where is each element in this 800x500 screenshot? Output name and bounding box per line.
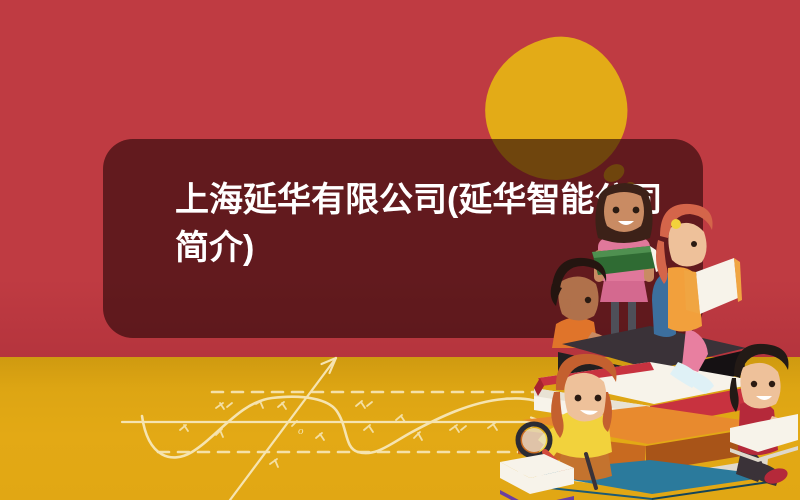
orange-open-book (684, 258, 742, 314)
children-reading-on-book-stack-illustration (500, 176, 800, 500)
trigonometric-function-sketch: o (120, 352, 550, 500)
child-right-red-shirt (730, 344, 798, 486)
banner-canvas: 上海延华有限公司(延华智能公司简介) (0, 0, 800, 500)
sketch-origin-label: o (298, 425, 304, 437)
